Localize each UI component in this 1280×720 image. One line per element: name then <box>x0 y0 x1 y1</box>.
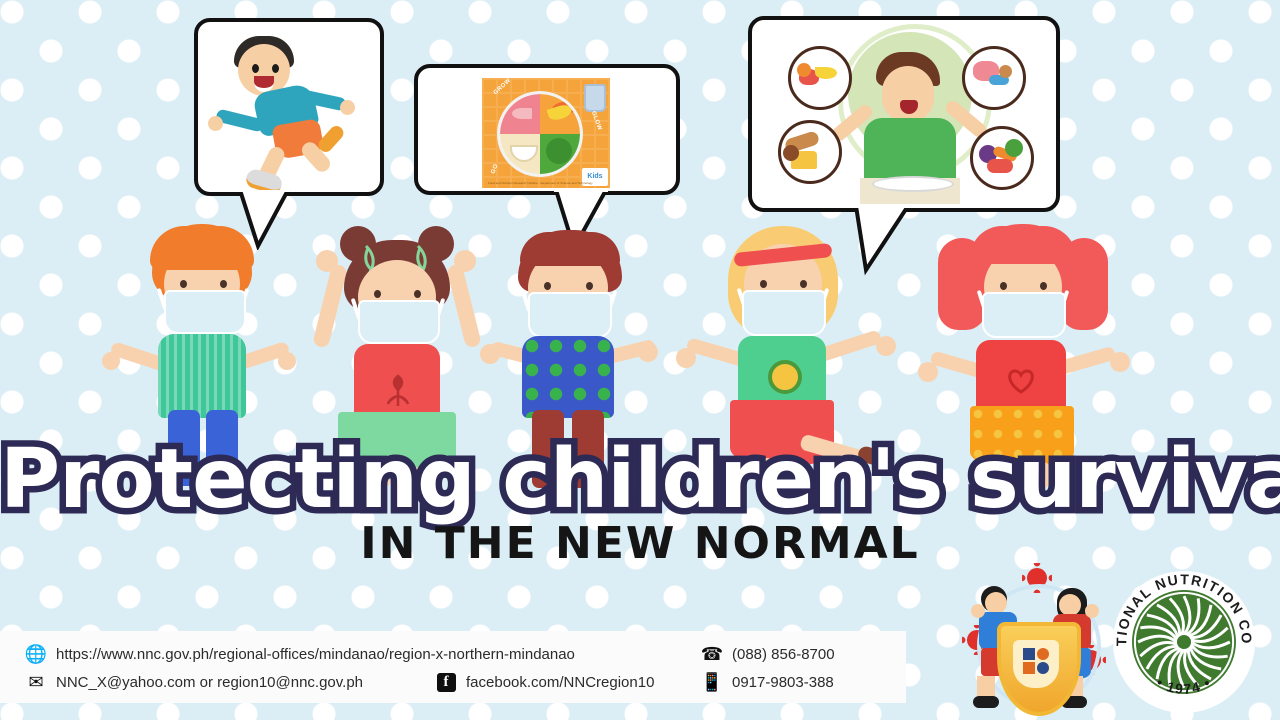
child-4-hand-right <box>876 336 896 356</box>
child-2-hand-left <box>316 250 338 272</box>
footer-facebook-row[interactable]: f facebook.com/NNCregion10 <box>434 669 654 695</box>
child-2-eye-left <box>374 290 381 298</box>
poster-canvas: GROW GLOW GO Kids Food and Nutrition Res… <box>0 0 1280 720</box>
child-4-face-mask <box>742 290 826 336</box>
footer-mobile-text: 0917-9803-388 <box>732 674 834 691</box>
speech-bubble-physical-activity <box>194 18 384 196</box>
footer-facebook-text: facebook.com/NNCregion10 <box>466 674 654 691</box>
child-5-eye-right <box>1040 282 1047 290</box>
child-3-eye-right <box>586 282 593 290</box>
boy-eye-right <box>272 64 279 73</box>
child-1-hand-left <box>102 352 120 370</box>
boy-eye-left <box>252 64 259 73</box>
mascot-girl-head <box>1059 594 1081 616</box>
child-2-arm-left <box>312 263 348 348</box>
food-circle-meat <box>962 46 1026 110</box>
child-4-flower-motif <box>768 360 802 394</box>
facebook-glyph: f <box>437 673 456 692</box>
footer-email-row[interactable]: ✉ NNC_X@yahoo.com or region10@nnc.gov.ph <box>24 669 363 695</box>
child-5-face-mask <box>982 292 1066 338</box>
banana-icon <box>547 103 574 123</box>
footer-website-row[interactable]: 🌐 https://www.nnc.gov.ph/regional-office… <box>24 641 575 667</box>
food-circle-fruits <box>788 46 852 110</box>
child-1-hair-top <box>150 226 254 270</box>
child-1-shirt <box>158 334 246 418</box>
child-1-eye-left <box>180 280 187 288</box>
pinggang-pinoy-card: GROW GLOW GO Kids Food and Nutrition Res… <box>482 78 610 188</box>
food-circle-vegetables <box>970 126 1034 190</box>
child-2-flower-motif <box>384 370 412 410</box>
mascot-girl-hand <box>1085 604 1099 618</box>
facebook-icon: f <box>434 671 458 693</box>
water-glass <box>584 84 606 112</box>
child-3-shirt <box>522 336 614 418</box>
child-5-heart-motif <box>1004 366 1038 396</box>
child-4-eye-left <box>760 280 767 288</box>
eating-boy-shirt <box>864 118 956 184</box>
fish-food-icon <box>512 108 532 119</box>
child-1-face-mask <box>164 290 246 334</box>
child-2-arm-right <box>446 263 482 348</box>
child-3-hair-top <box>520 232 620 266</box>
child-4-eye-right <box>800 280 807 288</box>
child-5-hand-right <box>1110 352 1130 372</box>
healthy-eating-illustration <box>752 20 1056 208</box>
page-subtitle: IN THE NEW NORMAL <box>0 518 1280 569</box>
pinggang-pinoy-illustration: GROW GLOW GO Kids Food and Nutrition Res… <box>418 68 676 191</box>
child-1-eye-right <box>220 280 227 288</box>
footer-contact-bar: 🌐 https://www.nnc.gov.ph/regional-office… <box>0 631 906 703</box>
mascot-boy-shoe <box>973 696 999 708</box>
child-2-hand-right <box>454 250 476 272</box>
child-2-face-mask <box>358 300 440 344</box>
rice-bowl-icon <box>510 145 538 162</box>
child-4-hand-left <box>676 348 696 368</box>
child-5-hand-left <box>918 362 938 382</box>
child-2-eye-right <box>414 290 421 298</box>
page-title: Protecting children's survival rights <box>0 432 1280 527</box>
footer-mobile-row[interactable]: 📱 0917-9803-388 <box>700 669 834 695</box>
food-circle-bread-cheese <box>778 120 842 184</box>
speech-bubble-healthy-eating <box>748 16 1060 212</box>
footer-telephone-row[interactable]: ☎ (088) 856-8700 <box>700 641 835 667</box>
footer-email-text: NNC_X@yahoo.com or region10@nnc.gov.ph <box>56 674 363 691</box>
footer-website-text: https://www.nnc.gov.ph/regional-offices/… <box>56 646 575 663</box>
child-5-hair-top <box>970 226 1076 264</box>
child-3-hand-left <box>480 344 500 364</box>
vegetable-icon <box>546 138 572 164</box>
child-3-eye-left <box>544 282 551 290</box>
telephone-icon: ☎ <box>700 643 724 665</box>
mobile-phone-icon: 📱 <box>700 671 724 693</box>
boy-hand-left <box>208 116 223 131</box>
child-1-hand-right <box>278 352 296 370</box>
vegetable-plate <box>872 176 954 192</box>
child-3-face-mask <box>528 292 612 338</box>
globe-icon: 🌐 <box>24 643 48 665</box>
child-5-eye-left <box>1000 282 1007 290</box>
mascot-boy-hand <box>971 604 985 618</box>
plate-credit-text: Food and Nutrition Research Institute - … <box>488 181 593 185</box>
mascot-boy-head <box>985 592 1007 614</box>
speech-bubble-pinggang-pinoy: GROW GLOW GO Kids Food and Nutrition Res… <box>414 64 680 195</box>
national-nutrition-council-logo: NATIONAL NUTRITION COUN • 1974 • <box>1110 568 1258 716</box>
footer-telephone-text: (088) 856-8700 <box>732 646 835 663</box>
children-with-shield-mascot <box>965 566 1105 714</box>
envelope-icon: ✉ <box>24 671 48 693</box>
child-3-hand-right <box>638 342 658 362</box>
boy-hand-right <box>340 100 355 115</box>
balanced-plate <box>500 94 580 174</box>
running-boy-illustration <box>198 22 380 192</box>
